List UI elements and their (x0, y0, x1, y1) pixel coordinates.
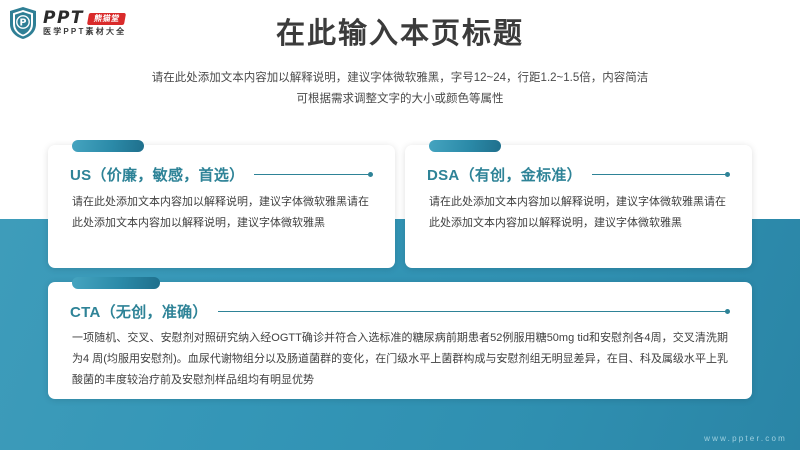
header-rule-line (592, 174, 726, 175)
card-body-dsa: 请在此处添加文本内容加以解释说明，建议字体微软雅黑请在此处添加文本内容加以解释说… (405, 185, 752, 235)
slide-canvas: P PPT 熊猫堂 医学PPT素材大全 在此输入本页标题 请在此处添加文本内容加… (0, 0, 800, 450)
header-rule-dot-icon (725, 309, 730, 314)
page-title: 在此输入本页标题 (0, 16, 800, 52)
card-tab-accent (72, 140, 144, 152)
page-subtitle: 请在此处添加文本内容加以解释说明，建议字体微软雅黑，字号12~24，行距1.2~… (100, 68, 700, 111)
card-header: US（价廉，敏感，首选） (48, 164, 395, 185)
header-rule-dot-icon (368, 172, 373, 177)
card-header: DSA（有创，金标准） (405, 164, 752, 185)
card-dsa[interactable]: DSA（有创，金标准） 请在此处添加文本内容加以解释说明，建议字体微软雅黑请在此… (405, 145, 752, 268)
header-rule (218, 309, 730, 314)
header-rule (254, 172, 373, 177)
card-tab-accent (429, 140, 501, 152)
card-title-cta: CTA（无创，准确） (70, 301, 208, 322)
card-body-us: 请在此处添加文本内容加以解释说明，建议字体微软雅黑请在此处添加文本内容加以解释说… (48, 185, 395, 235)
card-header: CTA（无创，准确） (48, 301, 752, 322)
card-us[interactable]: US（价廉，敏感，首选） 请在此处添加文本内容加以解释说明，建议字体微软雅黑请在… (48, 145, 395, 268)
subtitle-line-1: 请在此处添加文本内容加以解释说明，建议字体微软雅黑，字号12~24，行距1.2~… (100, 68, 700, 89)
header-rule-dot-icon (725, 172, 730, 177)
header-rule (592, 172, 730, 177)
card-body-cta: 一项随机、交叉、安慰剂对照研究纳入经OGTT确诊并符合入选标准的糖尿病前期患者5… (48, 322, 752, 391)
card-title-us: US（价廉，敏感，首选） (70, 164, 244, 185)
header-rule-line (254, 174, 369, 175)
header-rule-line (218, 311, 726, 312)
subtitle-line-2: 可根据需求调整文字的大小或颜色等属性 (100, 89, 700, 110)
footer-url: www.ppter.com (704, 434, 787, 443)
card-title-dsa: DSA（有创，金标准） (427, 164, 582, 185)
card-cta[interactable]: CTA（无创，准确） 一项随机、交叉、安慰剂对照研究纳入经OGTT确诊并符合入选… (48, 282, 752, 399)
card-tab-accent (72, 277, 160, 289)
